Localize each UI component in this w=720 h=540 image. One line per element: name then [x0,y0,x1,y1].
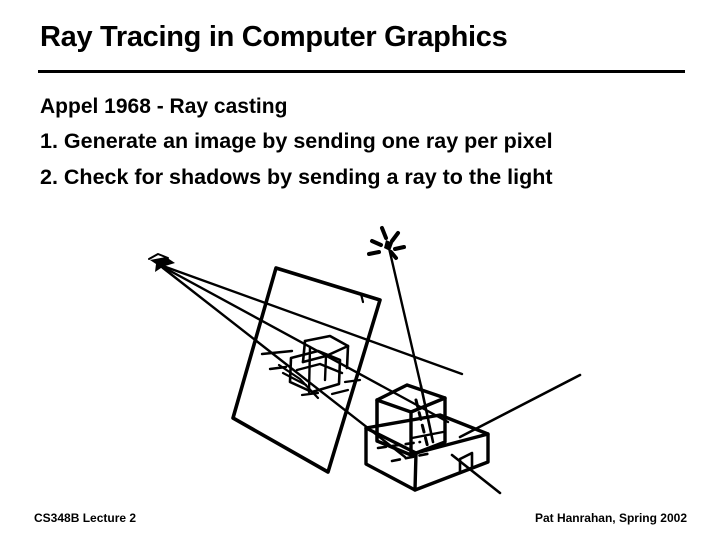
body-content: Appel 1968 - Ray casting 1. Generate an … [40,96,700,202]
body-step-2: 2. Check for shadows by sending a ray to… [40,167,700,189]
body-step-1: 1. Generate an image by sending one ray … [40,131,700,153]
eye-rays [163,266,462,457]
light-source [369,228,404,258]
ray-casting-diagram [0,210,720,495]
ray-casting-svg [0,210,720,495]
slide-canvas: Ray Tracing in Computer Graphics Appel 1… [0,0,720,540]
footer-author-label: Pat Hanrahan, Spring 2002 [535,511,687,525]
body-lead: Appel 1968 - Ray casting [40,96,700,117]
ground-slab [366,415,488,490]
page-title: Ray Tracing in Computer Graphics [40,22,690,54]
ground-line [452,375,580,493]
title-divider [38,70,685,73]
footer-course-label: CS348B Lecture 2 [34,511,136,525]
